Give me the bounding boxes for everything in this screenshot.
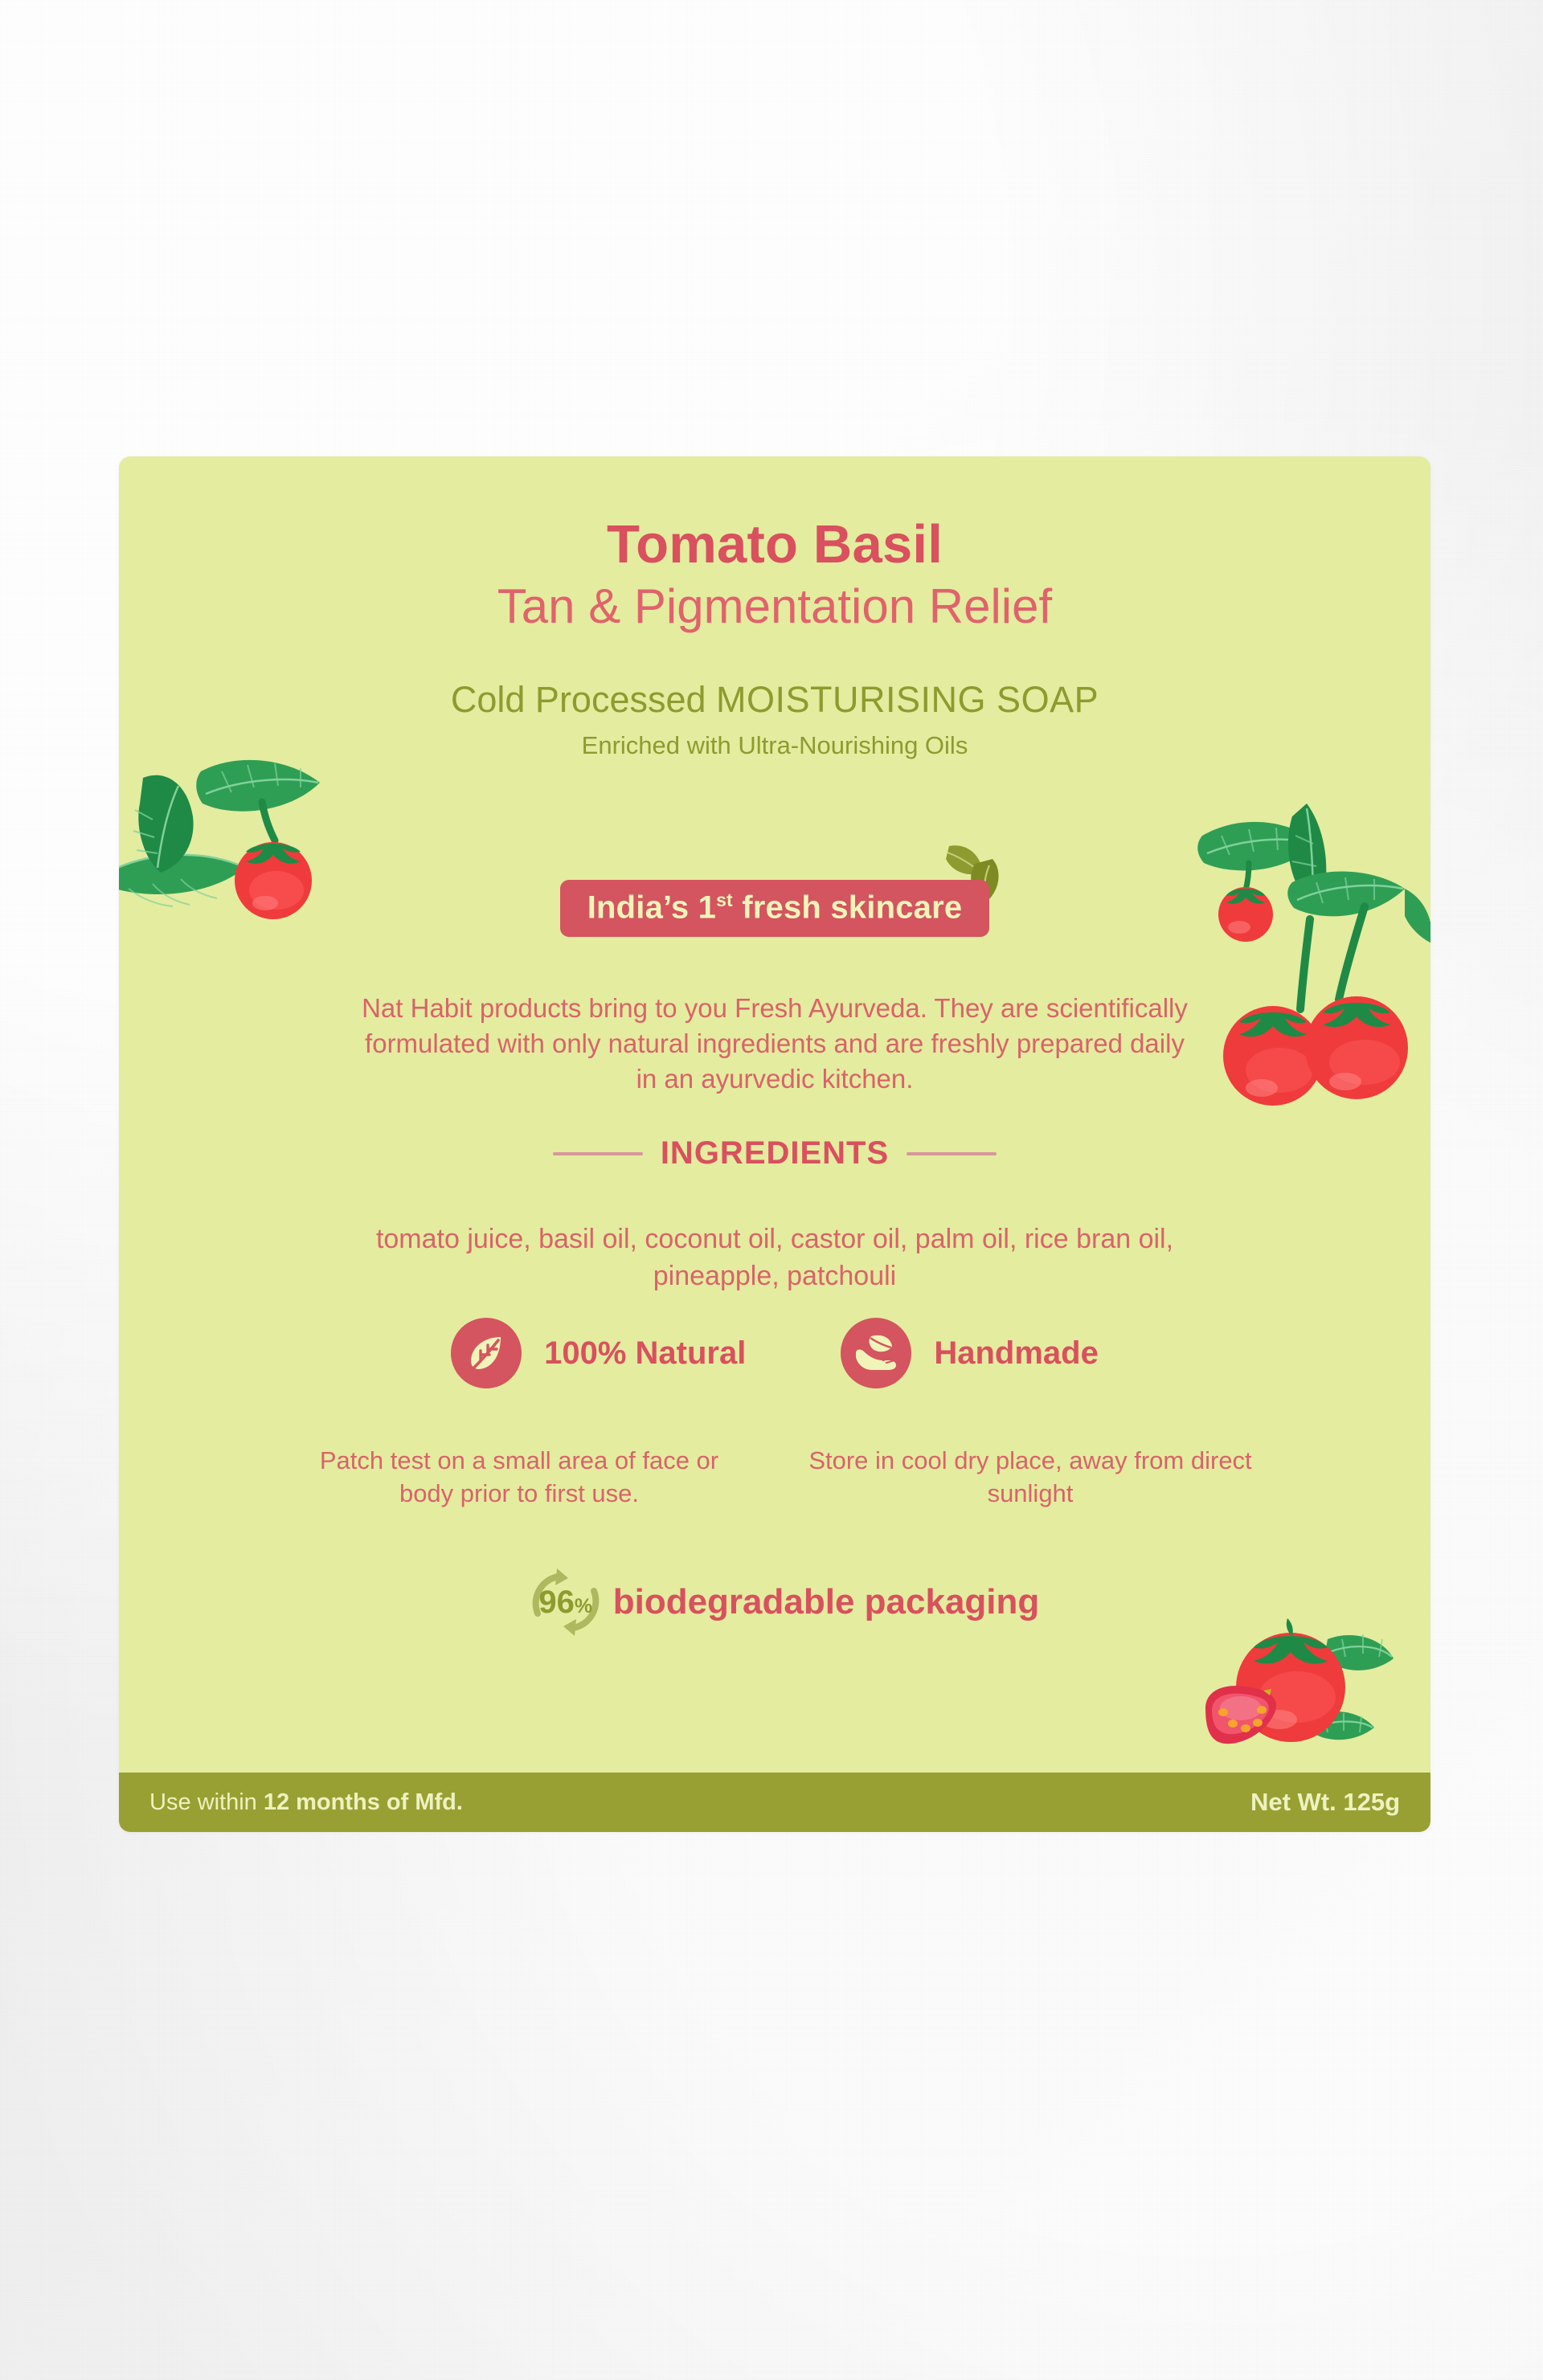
product-subtitle: Tan & Pigmentation Relief bbox=[119, 576, 1430, 638]
ingredients-list: tomato juice, basil oil, coconut oil, ca… bbox=[336, 1221, 1214, 1294]
biodegradable-value: 96% bbox=[522, 1586, 610, 1618]
net-weight: Net Wt. 125g bbox=[1250, 1788, 1400, 1817]
page-title: Tomato Basil bbox=[119, 517, 1430, 571]
product-type: MOISTURISING SOAP bbox=[716, 679, 1099, 720]
divider-rule-right bbox=[907, 1152, 997, 1155]
hand-holding-leaf-icon bbox=[841, 1318, 911, 1388]
fresh-skincare-badge: India’s 1st fresh skincare bbox=[560, 880, 990, 937]
feature-natural-label: 100% Natural bbox=[544, 1335, 746, 1372]
ingredients-heading: INGREDIENTS bbox=[661, 1135, 889, 1172]
use-within-duration: 12 months of Mfd. bbox=[264, 1789, 463, 1815]
header-block: Tomato Basil Tan & Pigmentation Relief C… bbox=[119, 517, 1430, 760]
badge-superscript: st bbox=[716, 889, 733, 910]
ingredients-heading-row: INGREDIENTS bbox=[119, 1135, 1430, 1172]
footer-bar: Use within 12 months of Mfd. Net Wt. 125… bbox=[119, 1773, 1430, 1832]
divider-rule-left bbox=[553, 1152, 643, 1155]
care-storage: Store in cool dry place, away from direc… bbox=[786, 1445, 1275, 1511]
biodegradable-row: 96% biodegradable packaging bbox=[119, 1564, 1430, 1641]
feature-natural: 100% Natural bbox=[451, 1318, 746, 1388]
fresh-skincare-badge-wrap: India’s 1st fresh skincare bbox=[119, 880, 1430, 952]
feature-row: 100% Natural Handmade bbox=[119, 1318, 1430, 1388]
leaf-icon bbox=[451, 1318, 522, 1388]
use-within-text: Use within 12 months of Mfd. bbox=[149, 1789, 463, 1816]
care-patch-test: Patch test on a small area of face or bo… bbox=[275, 1445, 763, 1511]
enrichment-line: Enriched with Ultra-Nourishing Oils bbox=[119, 730, 1430, 760]
recycle-arrows-icon: 96% bbox=[522, 1564, 610, 1641]
feature-handmade: Handmade bbox=[841, 1318, 1099, 1388]
feature-handmade-label: Handmade bbox=[934, 1335, 1099, 1372]
badge-prefix: India’s 1 bbox=[587, 889, 716, 925]
product-type-line: Cold Processed MOISTURISING SOAP bbox=[119, 680, 1430, 720]
care-instructions-row: Patch test on a small area of face or bo… bbox=[280, 1445, 1270, 1511]
use-within-prefix: Use within bbox=[149, 1789, 264, 1815]
brand-blurb: Nat Habit products bring to you Fresh Ay… bbox=[360, 991, 1189, 1097]
product-label-card: Tomato Basil Tan & Pigmentation Relief C… bbox=[119, 456, 1430, 1832]
badge-suffix: fresh skincare bbox=[733, 889, 962, 925]
biodegradable-label: biodegradable packaging bbox=[613, 1582, 1040, 1622]
bio-number: 96 bbox=[538, 1585, 575, 1620]
bio-percent-sign: % bbox=[575, 1595, 592, 1617]
process-label: Cold Processed bbox=[451, 679, 716, 720]
